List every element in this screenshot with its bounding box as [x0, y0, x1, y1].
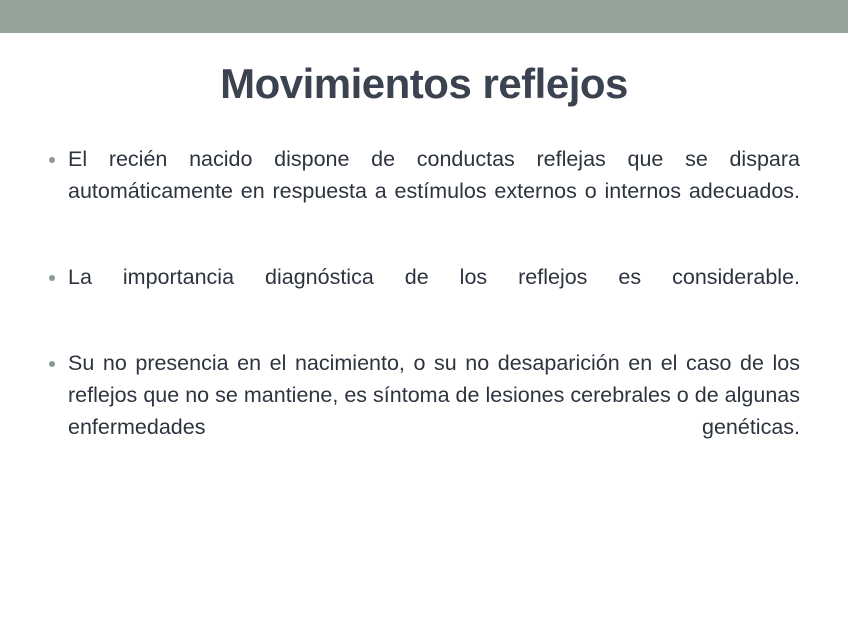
- bullet-dot-icon: [49, 275, 55, 281]
- bullet-dot-icon: [49, 361, 55, 367]
- slide-accent-band: [0, 0, 848, 33]
- presentation-slide: Movimientos reflejos El recién nacido di…: [0, 0, 848, 636]
- slide-title: Movimientos reflejos: [0, 62, 848, 106]
- bullet-dot-icon: [49, 157, 55, 163]
- slide-body-content: El recién nacido dispone de conductas re…: [44, 143, 800, 475]
- bullet-item-text: Su no presencia en el nacimiento, o su n…: [68, 347, 800, 475]
- bullet-list-item: La importancia diagnóstica de los reflej…: [44, 261, 800, 325]
- bullet-list-item: Su no presencia en el nacimiento, o su n…: [44, 347, 800, 475]
- bullet-list-item: El recién nacido dispone de conductas re…: [44, 143, 800, 239]
- bullet-item-text: La importancia diagnóstica de los reflej…: [68, 261, 800, 325]
- bullet-item-text: El recién nacido dispone de conductas re…: [68, 143, 800, 239]
